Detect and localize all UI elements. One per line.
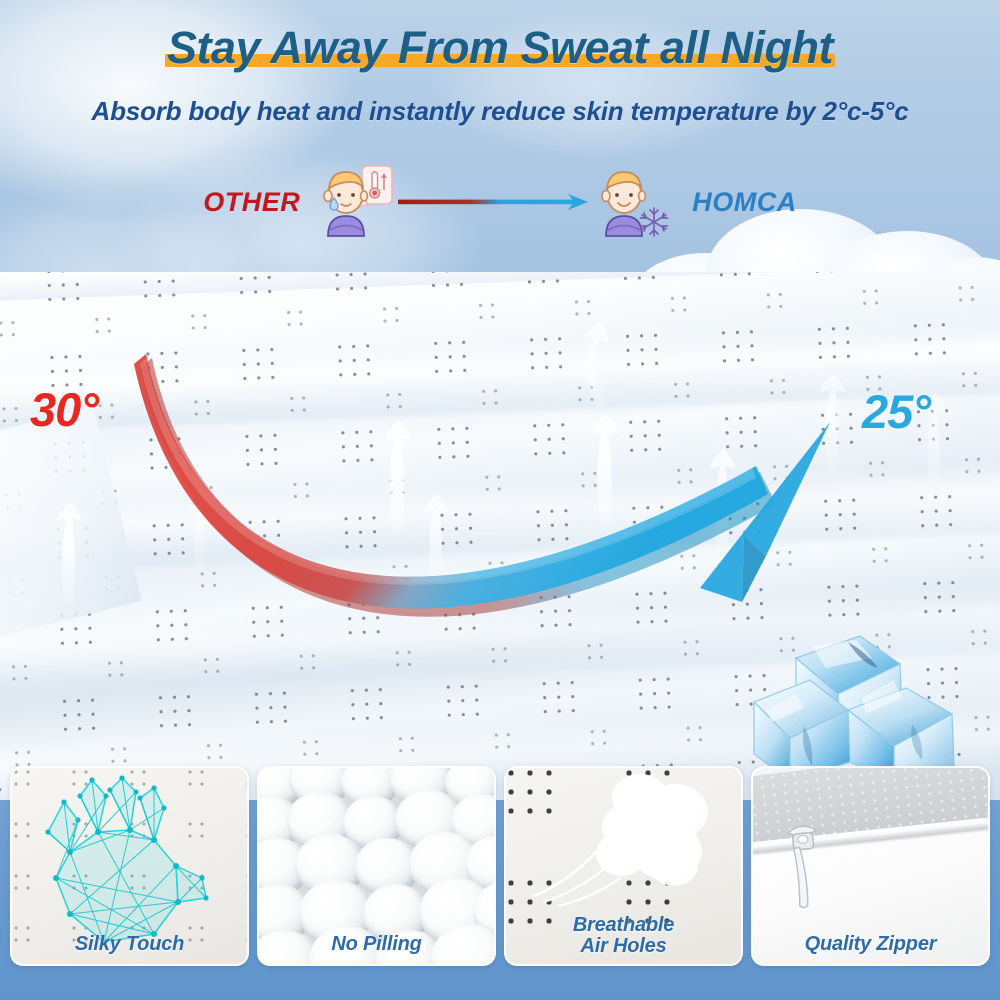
sweating-person-with-thermometer-icon (318, 158, 398, 246)
card-label: Breathable Air Holes (506, 915, 741, 958)
ice-cubes-icon (752, 606, 962, 781)
comparison-row: OTHER (0, 158, 1000, 246)
card-label: Quality Zipper (753, 934, 988, 956)
card-label: Silky Touch (12, 934, 247, 956)
zipper-pull-icon (777, 818, 857, 938)
feature-cards-row: Silky Touch (0, 766, 1000, 972)
card-label: No Pilling (259, 934, 494, 956)
temperature-cold-label: 25° (862, 384, 930, 439)
cool-person-with-snowflake-icon (598, 158, 678, 246)
feature-card-quality-zipper[interactable]: Quality Zipper (751, 766, 990, 966)
feature-card-no-pilling[interactable]: No Pilling (257, 766, 496, 966)
headline-text: Stay Away From Sweat all Night (167, 22, 833, 73)
subheadline: Absorb body heat and instantly reduce sk… (0, 96, 1000, 127)
headline-container: Stay Away From Sweat all Night (0, 24, 1000, 71)
homca-label: HOMCA (692, 187, 797, 218)
card-label-line-2: Air Holes (510, 936, 737, 958)
air-stream-lines-icon (528, 840, 638, 908)
feature-card-silky-touch[interactable]: Silky Touch (10, 766, 249, 966)
temperature-hot-label: 30° (30, 382, 98, 437)
page-title: Stay Away From Sweat all Night (161, 24, 839, 71)
product-infographic: Stay Away From Sweat all Night Absorb bo… (0, 0, 1000, 1000)
right-arrow-red-to-blue-icon (398, 190, 598, 214)
other-label: OTHER (203, 187, 300, 218)
card-label-line-1: Breathable (510, 915, 737, 937)
feature-card-breathable-air-holes[interactable]: Breathable Air Holes (504, 766, 743, 966)
